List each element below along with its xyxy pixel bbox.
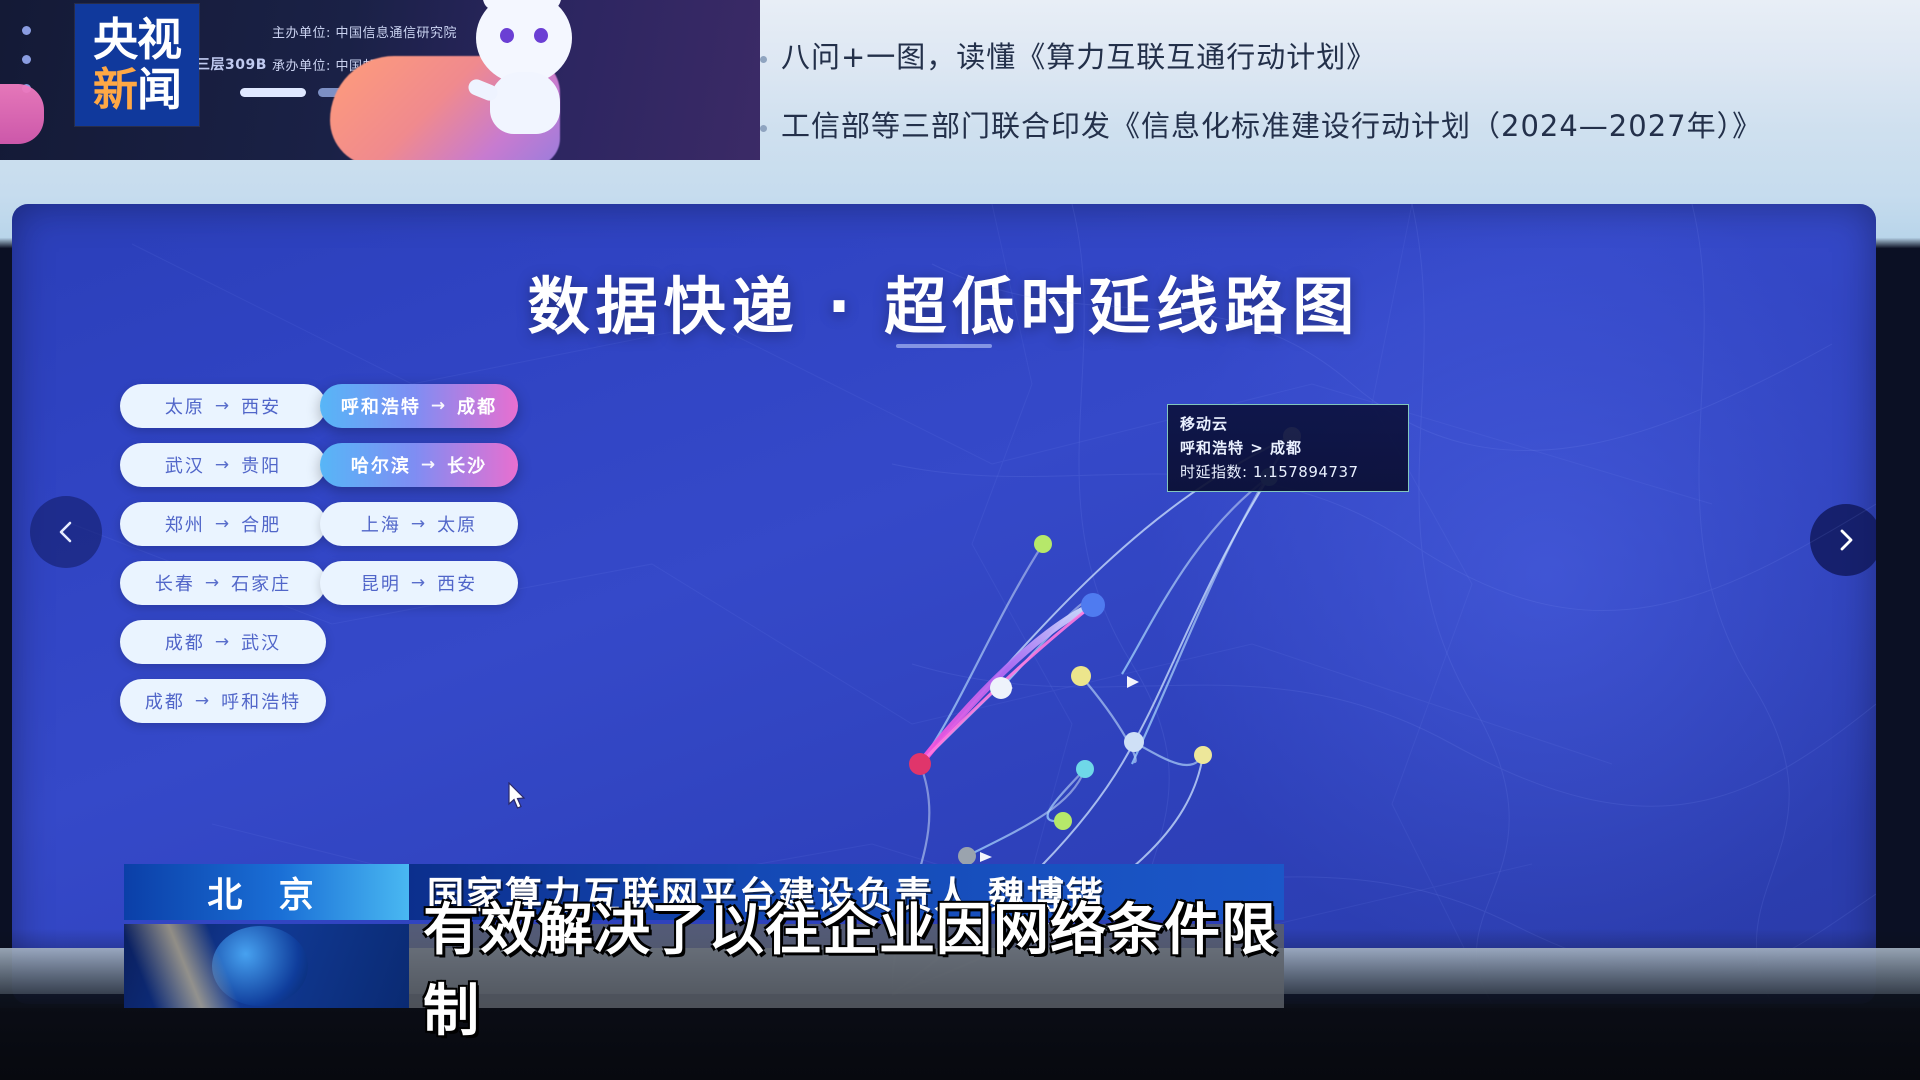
mouse-cursor-icon (507, 782, 527, 810)
chyron-subtitle: 有效解决了以往企业因网络条件限制 (409, 924, 1284, 1008)
chyron-city: 北 京 (124, 864, 409, 920)
chyron-row-bottom: 有效解决了以往企业因网络条件限制 (124, 924, 1284, 1008)
tooltip-provider: 移动云 (1180, 413, 1398, 434)
node-tooltip: 移动云 呼和浩特 > 成都 时延指数: 1.157894737 (1167, 404, 1409, 492)
globe-graphic (124, 924, 409, 1008)
tooltip-metric-value: 1.157894737 (1253, 463, 1359, 481)
tooltip-metric: 时延指数: 1.157894737 (1180, 461, 1398, 482)
tooltip-route: 呼和浩特 > 成都 (1180, 437, 1398, 458)
tooltip-metric-label: 时延指数: (1180, 463, 1248, 481)
lower-third-chyron: 北 京 国家算力互联网平台建设负责人 魏博锴 有效解决了以往企业因网络条件限制 (124, 864, 1284, 1012)
screenshot-root: 三层309B 主办单位: 中国信息通信研究院 承办单位: 中国邮电器材集团有限公… (0, 0, 1920, 1080)
